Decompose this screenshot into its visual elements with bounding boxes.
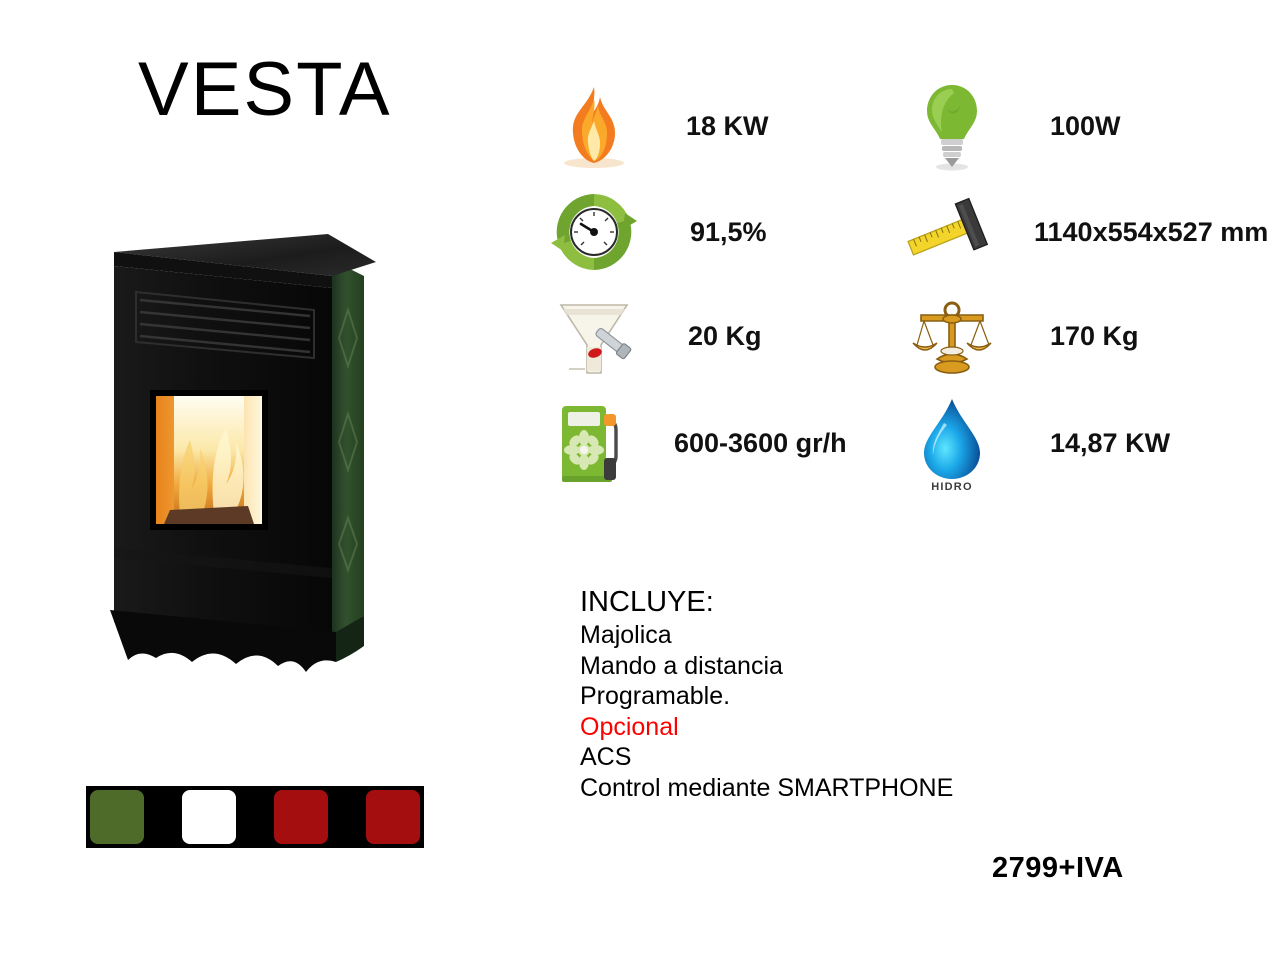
light-bulb-icon [906,80,998,172]
page-title: VESTA [138,52,392,128]
spec-value-hopper-capacity: 20 Kg [688,321,762,352]
color-swatch-row [86,786,424,848]
spec-value-weight: 170 Kg [1050,321,1139,352]
stove-fire-window [150,390,268,530]
water-drop-icon: HIDRO [906,397,998,489]
includes-item-programmable: Programable. [580,681,1100,712]
color-swatch-white[interactable] [270,786,332,848]
ruler-square-icon [906,186,998,278]
spec-item-dimensions: 1140x554x527 mm [898,180,1274,284]
spec-value-consumption: 600-3600 gr/h [674,428,847,459]
pellet-stove-illustration [96,218,416,678]
spec-value-dimensions: 1140x554x527 mm [1034,217,1268,248]
color-swatch-red[interactable] [362,786,424,848]
stove-side-panel [332,260,364,638]
includes-item-smartphone-control: Control mediante SMARTPHONE [580,773,1100,804]
spec-item-consumption: 600-3600 gr/h [548,388,898,498]
includes-item-majolica: Majolica [580,620,1100,651]
spec-value-power: 18 KW [686,111,769,142]
price-label: 2799+IVA [992,852,1124,885]
spec-item-hopper-capacity: 20 Kg [548,284,898,388]
spec-item-efficiency: 91,5% [548,180,898,284]
hydro-badge-text: HIDRO [931,481,972,491]
includes-item-acs: ACS [580,742,1100,773]
flame-icon [548,80,640,172]
includes-heading: INCLUYE: [580,586,1100,618]
spec-value-electric-power: 100W [1050,111,1121,142]
efficiency-gauge-icon [548,186,640,278]
spec-value-hydro-power: 14,87 KW [1050,428,1170,459]
includes-section: INCLUYE: Majolica Mando a distancia Prog… [580,586,1100,803]
product-image [96,218,416,678]
hopper-funnel-icon [548,290,640,382]
spec-item-electric-power: 100W [898,72,1274,180]
color-swatch-green[interactable] [178,786,240,848]
balance-scale-icon [906,290,998,382]
specification-grid: 18 KW 100W [548,72,1274,498]
includes-optional-heading: Opcional [580,712,1100,743]
color-swatch-black[interactable] [86,786,148,848]
spec-item-power: 18 KW [548,72,898,180]
spec-value-efficiency: 91,5% [690,217,767,248]
includes-item-remote-control: Mando a distancia [580,651,1100,682]
spec-item-weight: 170 Kg [898,284,1274,388]
fuel-pump-icon [548,397,640,489]
spec-item-hydro-power: HIDRO 14,87 KW [898,388,1274,498]
